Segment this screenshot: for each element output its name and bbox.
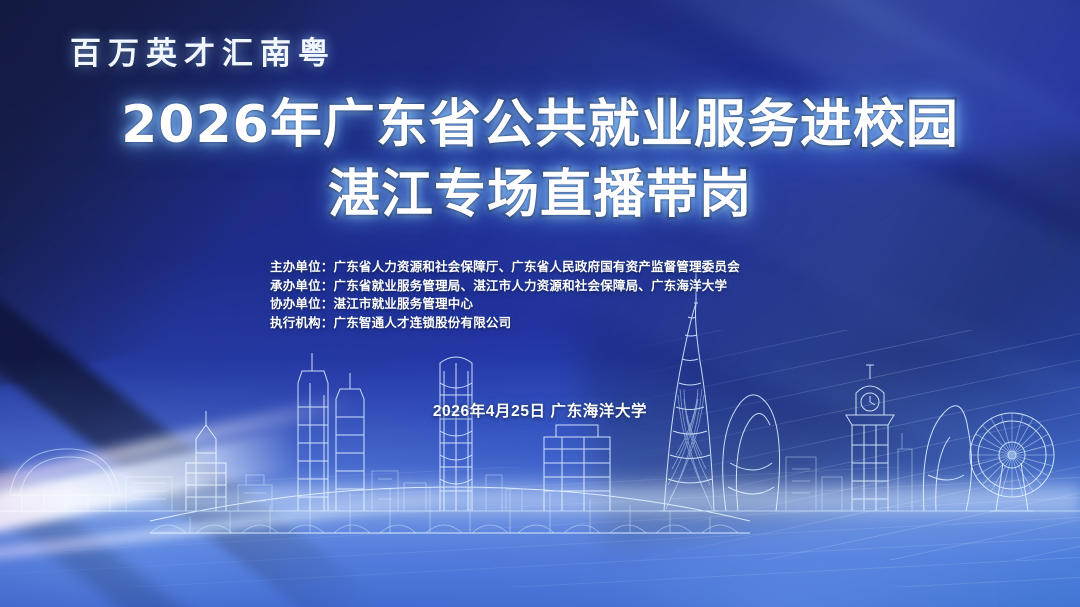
organizer-line-executor: 执行机构：广东智通人才连锁股份有限公司: [270, 314, 740, 333]
title-line-1: 2026年广东省公共就业服务进校园: [0, 97, 1080, 153]
calligraphy-slogan: 百万英才汇南粤: [70, 28, 336, 73]
horizontal-streaks-bottom: [0, 467, 1080, 587]
poster-canvas: 百万英才汇南粤 2026年广东省公共就业服务进校园 湛江专场直播带岗 主办单位：…: [0, 0, 1080, 607]
organizer-line-undertake: 承办单位：广东省就业服务管理局、湛江市人力资源和社会保障局、广东海洋大学: [270, 277, 740, 296]
organizer-block: 主办单位：广东省人力资源和社会保障厅、广东省人民政府国有资产监督管理委员会 承办…: [270, 258, 740, 332]
title-line-2: 湛江专场直播带岗: [0, 167, 1080, 223]
event-date-text: 2026年4月25日 广东海洋大学: [433, 403, 647, 420]
main-title: 2026年广东省公共就业服务进校园 湛江专场直播带岗: [0, 97, 1080, 223]
event-date-venue: 2026年4月25日 广东海洋大学: [0, 399, 1080, 421]
organizer-line-coorganize: 协办单位：湛江市就业服务管理中心: [270, 295, 740, 314]
organizer-line-host: 主办单位：广东省人力资源和社会保障厅、广东省人民政府国有资产监督管理委员会: [270, 258, 740, 277]
